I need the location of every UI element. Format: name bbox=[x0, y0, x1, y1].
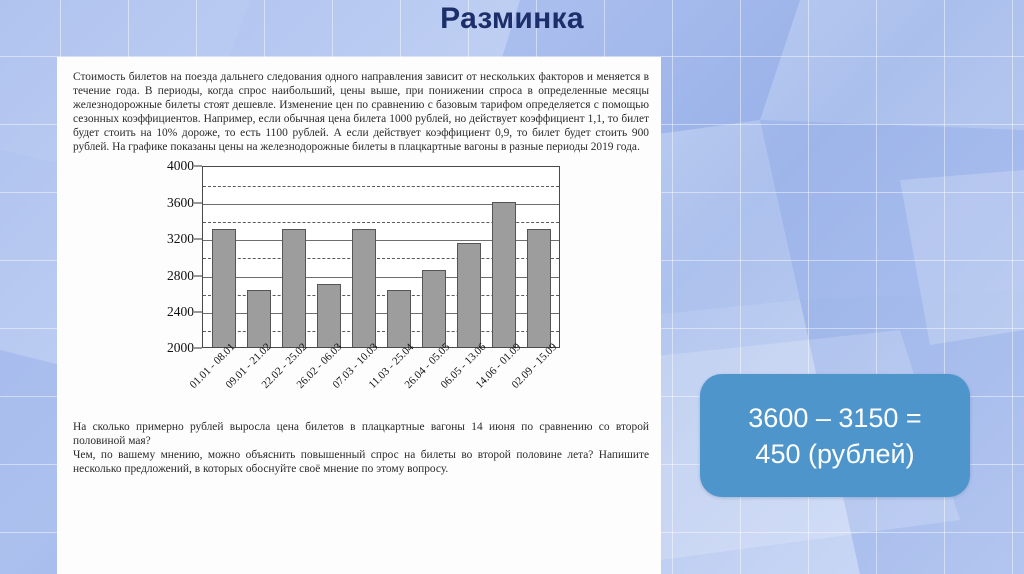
chart-y-axis: 200024002800320036004000 bbox=[155, 166, 199, 348]
chart-plot-area bbox=[202, 166, 560, 348]
chart-bar bbox=[457, 243, 481, 348]
y-tick-label-3200: 3200 bbox=[167, 231, 194, 247]
y-tick-mark-4000 bbox=[194, 166, 202, 167]
chart-bar bbox=[282, 229, 306, 347]
question-1: На сколько примерно рублей выросла цена … bbox=[73, 421, 649, 449]
chart-bars bbox=[203, 167, 559, 347]
y-tick-label-4000: 4000 bbox=[167, 158, 194, 174]
document-panel: Стоимость билетов на поезда дальнего сле… bbox=[57, 57, 661, 574]
page-title: Разминка bbox=[0, 2, 1024, 36]
y-tick-label-2000: 2000 bbox=[167, 340, 194, 356]
y-tick-label-3600: 3600 bbox=[167, 195, 194, 211]
chart-x-axis: 01.01 - 08.0109.01 - 21.0222.02 - 25.022… bbox=[202, 350, 560, 414]
answer-callout[interactable]: 3600 – 3150 = 450 (рублей) bbox=[700, 374, 970, 497]
chart-bar bbox=[527, 229, 551, 347]
answer-line-2: 450 (рублей) bbox=[755, 437, 914, 471]
chart-bar bbox=[422, 270, 446, 347]
y-tick-mark-3200 bbox=[194, 239, 202, 240]
y-tick-mark-2800 bbox=[194, 275, 202, 276]
answer-line-1: 3600 – 3150 = bbox=[748, 401, 921, 435]
chart-bar bbox=[352, 229, 376, 347]
y-tick-label-2400: 2400 bbox=[167, 304, 194, 320]
intro-paragraph: Стоимость билетов на поезда дальнего сле… bbox=[73, 71, 649, 154]
chart-bar bbox=[212, 229, 236, 347]
y-tick-mark-2400 bbox=[194, 312, 202, 313]
y-tick-mark-2000 bbox=[194, 348, 202, 349]
chart-bar bbox=[317, 284, 341, 348]
y-tick-mark-3600 bbox=[194, 202, 202, 203]
question-2: Чем, по вашему мнению, можно объяснить п… bbox=[73, 449, 649, 477]
ticket-price-bar-chart: 200024002800320036004000 01.01 - 08.0109… bbox=[155, 160, 615, 415]
chart-bar bbox=[387, 290, 411, 347]
y-tick-label-2800: 2800 bbox=[167, 268, 194, 284]
chart-bar bbox=[492, 202, 516, 348]
chart-bar bbox=[247, 290, 271, 347]
